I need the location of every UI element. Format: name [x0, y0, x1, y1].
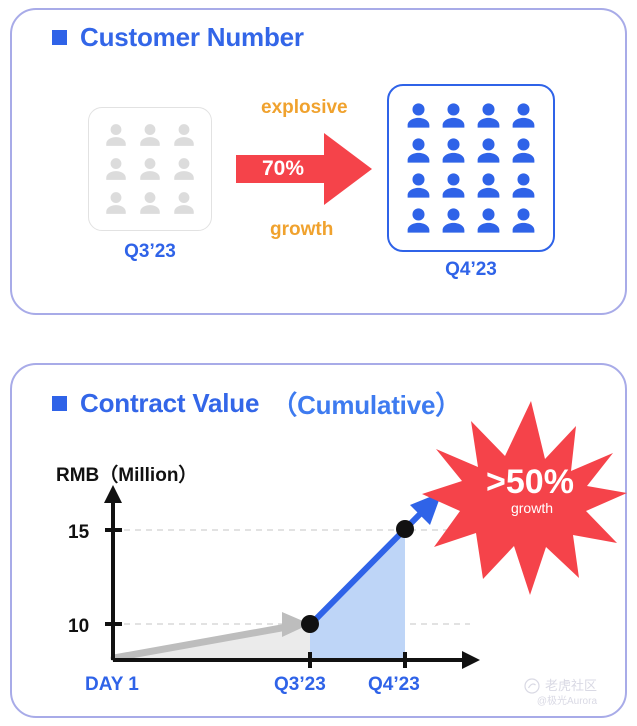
person-icon [439, 136, 468, 165]
growth-badge-starburst: >50% growth [422, 401, 627, 595]
contract-value-chart: RMB（Million） [10, 363, 627, 718]
q3-group-label: Q3’23 [88, 241, 212, 263]
q3-customer-group [88, 107, 212, 231]
square-bullet-icon [52, 30, 67, 45]
x-tick-q4: Q4’23 [368, 674, 420, 695]
q4-group-label: Q4’23 [387, 259, 555, 281]
person-icon [509, 206, 538, 235]
y-axis-title: RMB（Million） [56, 463, 197, 486]
watermark: 老虎社区 @极光Aurora [524, 677, 597, 708]
person-icon [439, 101, 468, 130]
explosive-label: explosive [261, 97, 348, 119]
person-icon [509, 136, 538, 165]
person-icon [103, 156, 129, 182]
person-icon [137, 156, 163, 182]
growth-arrow-percent: 70% [262, 157, 304, 181]
growth-label: growth [270, 219, 333, 241]
person-icon [103, 122, 129, 148]
person-icon [103, 190, 129, 216]
person-icon [137, 122, 163, 148]
person-icon [137, 190, 163, 216]
person-icon [404, 206, 433, 235]
growth-badge-value: >50% [486, 463, 574, 501]
watermark-logo-icon [524, 678, 540, 694]
person-icon [474, 206, 503, 235]
x-tick-day1: DAY 1 [85, 674, 139, 695]
y-tick-10: 10 [68, 616, 89, 637]
person-icon [171, 190, 197, 216]
area-q3-q4 [310, 529, 405, 660]
person-icon [509, 171, 538, 200]
watermark-brand-row: 老虎社区 [524, 677, 597, 695]
data-point-q4 [396, 520, 414, 538]
person-icon [474, 101, 503, 130]
person-icon [404, 136, 433, 165]
person-icon [439, 206, 468, 235]
y-tick-15: 15 [68, 522, 90, 543]
person-icon [439, 171, 468, 200]
person-icon [171, 122, 197, 148]
person-icon [509, 101, 538, 130]
watermark-brand: 老虎社区 [545, 677, 597, 695]
growth-badge-caption: growth [511, 500, 553, 516]
x-tick-q3: Q3’23 [274, 674, 326, 695]
watermark-handle: @极光Aurora [524, 695, 597, 709]
customer-number-title: Customer Number [52, 22, 304, 53]
q4-customer-group [387, 84, 555, 252]
person-icon [404, 101, 433, 130]
person-icon [404, 171, 433, 200]
person-icon [474, 171, 503, 200]
person-icon [474, 136, 503, 165]
slide-page: Customer Number Q3’23 Q4’23 explosive gr [0, 0, 637, 726]
customer-number-title-text: Customer Number [80, 22, 304, 53]
person-icon [171, 156, 197, 182]
data-point-q3 [301, 615, 319, 633]
